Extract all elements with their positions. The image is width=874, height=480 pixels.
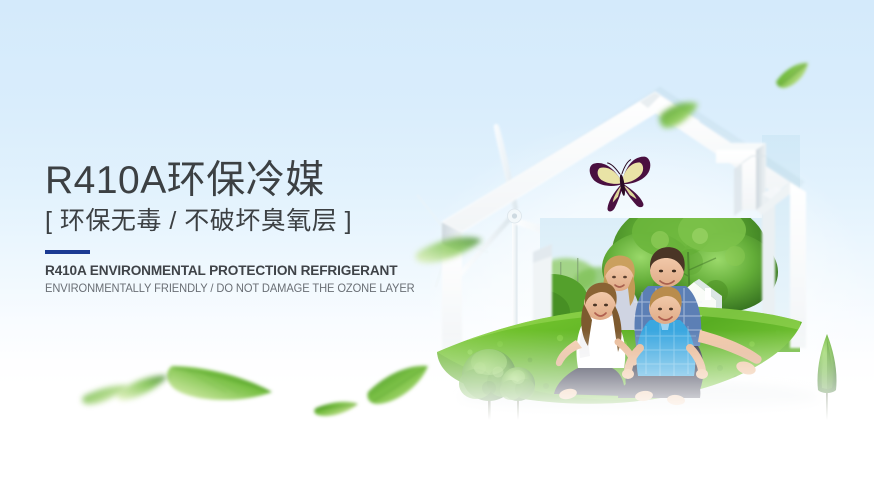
flying-leaf-top-right-icon (776, 63, 808, 88)
flying-leaf-left-soft-icon (416, 237, 482, 262)
flying-leaf-left-large-icon (167, 366, 272, 400)
flying-leaf-right-icon (367, 366, 428, 404)
flying-leaves-layer (0, 0, 874, 480)
flying-leaf-left-small-icon (314, 402, 358, 416)
promo-banner: R410A环保冷媒 [ 环保无毒 / 不破坏臭氧层 ] R410A ENVIRO… (0, 0, 874, 480)
flying-leaf-mid-icon (660, 102, 698, 128)
